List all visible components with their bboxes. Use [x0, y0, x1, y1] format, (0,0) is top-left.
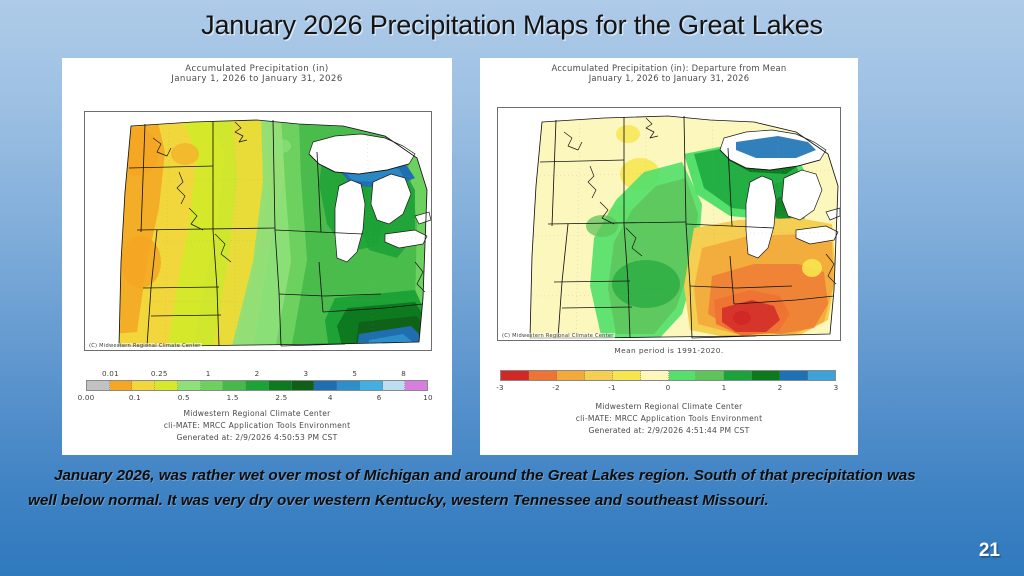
dep-swatch-0 — [501, 371, 529, 380]
map-plot-area-departure[interactable]: (C) Midwestern Regional Climate Center — [497, 107, 841, 341]
cbar-tick-5: 5 — [352, 369, 357, 378]
swatch-5 — [201, 381, 224, 390]
swatch-0 — [87, 381, 110, 390]
colorbar-swatches-departure — [500, 370, 836, 381]
swatch-7 — [246, 381, 269, 390]
colorbar-departure-ticks: -3 -2 -1 0 1 2 3 — [500, 383, 836, 393]
precipitation-map-panel: Accumulated Precipitation (in) January 1… — [62, 58, 452, 455]
dep-tick--1: -1 — [608, 383, 616, 392]
swatch-13 — [383, 381, 406, 390]
figure-title-left-line1: Accumulated Precipitation (in) — [185, 64, 328, 74]
cbar-tick-0.00: 0.00 — [78, 393, 95, 402]
dep-tick-2: 2 — [778, 383, 783, 392]
departure-contour-map — [498, 108, 840, 340]
dep-swatch-9 — [752, 371, 780, 380]
cbar-tick-1.5: 1.5 — [227, 393, 239, 402]
dep-swatch-2 — [557, 371, 585, 380]
swatch-3 — [155, 381, 178, 390]
dep-swatch-3 — [585, 371, 613, 380]
colorbar-departure: -3 -2 -1 0 1 2 3 — [500, 360, 836, 396]
map-credit-left: (C) Midwestern Regional Climate Center — [88, 343, 202, 349]
footer-left-line3: Generated at: 2/9/2026 4:50:53 PM CST — [62, 432, 452, 444]
colorbar-precipitation: 0.01 0.25 1 2 3 5 8 — [86, 367, 428, 407]
page-title: January 2026 Precipitation Maps for the … — [0, 10, 1024, 41]
swatch-8 — [269, 381, 292, 390]
footer-left-line1: Midwestern Regional Climate Center — [62, 408, 452, 420]
cbar-tick-6: 6 — [377, 393, 382, 402]
colorbar-swatches-precipitation — [86, 380, 428, 391]
cbar-tick-2.5: 2.5 — [275, 393, 287, 402]
page-number: 21 — [979, 540, 1000, 562]
dep-swatch-10 — [780, 371, 808, 380]
figure-title-right-line2: January 1, 2026 to January 31, 2026 — [480, 74, 858, 84]
dep-tick-1: 1 — [722, 383, 727, 392]
dep-swatch-6 — [669, 371, 697, 380]
dep-tick--2: -2 — [552, 383, 560, 392]
slide-caption: January 2026, was rather wet over most o… — [28, 464, 928, 513]
mean-period-note: Mean period is 1991-2020. — [480, 346, 858, 355]
swatch-14 — [405, 381, 427, 390]
cbar-tick-1: 1 — [206, 369, 211, 378]
footer-right-line2: cli-MATE: MRCC Application Tools Environ… — [480, 413, 858, 425]
cbar-tick-3: 3 — [303, 369, 308, 378]
swatch-2 — [132, 381, 155, 390]
footer-right-line3: Generated at: 2/9/2026 4:51:44 PM CST — [480, 425, 858, 437]
dep-tick-3: 3 — [834, 383, 839, 392]
swatch-12 — [360, 381, 383, 390]
dep-swatch-5 — [641, 371, 669, 380]
figure-footer-right: Midwestern Regional Climate Center cli-M… — [480, 401, 858, 436]
map-credit-right: (C) Midwestern Regional Climate Center — [501, 333, 615, 339]
figure-title-right: Accumulated Precipitation (in): Departur… — [480, 64, 858, 84]
cbar-tick-4: 4 — [328, 393, 333, 402]
figure-title-left-line2: January 1, 2026 to January 31, 2026 — [62, 74, 452, 84]
dep-swatch-4 — [613, 371, 641, 380]
dep-swatch-7 — [696, 371, 724, 380]
cbar-tick-8: 8 — [401, 369, 406, 378]
swatch-4 — [178, 381, 201, 390]
figure-footer-left: Midwestern Regional Climate Center cli-M… — [62, 408, 452, 443]
slide: January 2026 Precipitation Maps for the … — [0, 0, 1024, 576]
cbar-tick-2: 2 — [255, 369, 260, 378]
dep-tick-0: 0 — [666, 383, 671, 392]
footer-left-line2: cli-MATE: MRCC Application Tools Environ… — [62, 420, 452, 432]
map-plot-area-precipitation[interactable]: (C) Midwestern Regional Climate Center — [84, 111, 432, 351]
precipitation-contour-map — [85, 112, 431, 350]
swatch-10 — [314, 381, 337, 390]
footer-right-line1: Midwestern Regional Climate Center — [480, 401, 858, 413]
figure-title-left: Accumulated Precipitation (in) January 1… — [62, 64, 452, 84]
cbar-tick-0.1: 0.1 — [129, 393, 141, 402]
colorbar-ticks-top: 0.01 0.25 1 2 3 5 8 — [86, 369, 428, 379]
dep-swatch-11 — [808, 371, 835, 380]
departure-from-mean-figure: Accumulated Precipitation (in): Departur… — [480, 58, 858, 455]
swatch-6 — [223, 381, 246, 390]
colorbar-ticks-bottom: 0.00 0.1 0.5 1.5 2.5 4 6 10 — [86, 393, 428, 403]
accumulated-precipitation-figure: Accumulated Precipitation (in) January 1… — [62, 58, 452, 455]
dep-swatch-8 — [724, 371, 752, 380]
swatch-1 — [110, 381, 133, 390]
cbar-tick-0.01: 0.01 — [102, 369, 119, 378]
cbar-tick-0.25: 0.25 — [151, 369, 168, 378]
cbar-tick-0.5: 0.5 — [178, 393, 190, 402]
cbar-tick-10: 10 — [423, 393, 433, 402]
figure-title-right-line1: Accumulated Precipitation (in): Departur… — [552, 63, 787, 73]
departure-map-panel: Accumulated Precipitation (in): Departur… — [480, 58, 858, 455]
dep-tick--3: -3 — [496, 383, 504, 392]
swatch-9 — [292, 381, 315, 390]
dep-swatch-1 — [529, 371, 557, 380]
swatch-11 — [337, 381, 360, 390]
